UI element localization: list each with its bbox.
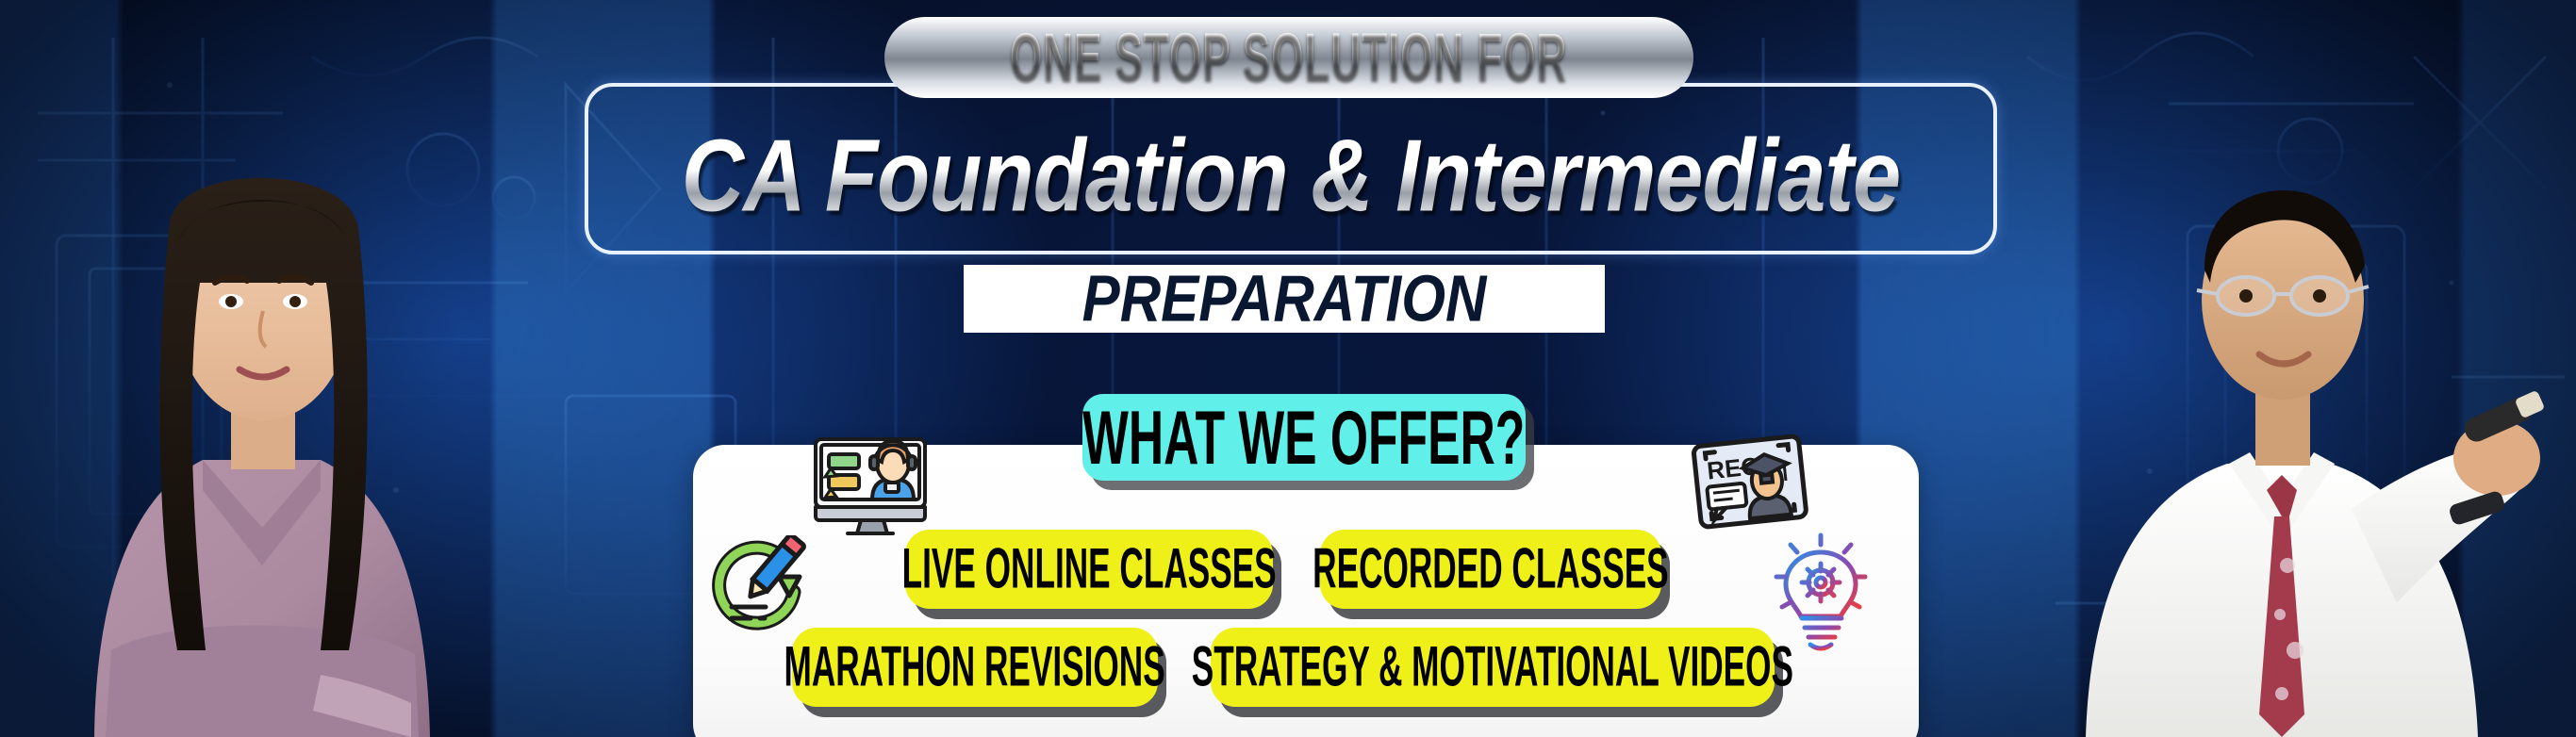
offers-heading-text: WHAT WE OFFER? [1082, 394, 1525, 481]
headline-text: CA Foundation & Intermediate [682, 118, 1900, 235]
offer-label: STRATEGY & MOTIVATIONAL VIDEOS [1192, 635, 1793, 700]
revision-pencil-icon [705, 535, 811, 641]
offer-pill-live-online-classes[interactable]: LIVE ONLINE CLASSES [905, 530, 1273, 609]
subheadline-bar: PREPARATION [964, 265, 1605, 333]
offer-pill-marathon-revisions[interactable]: MARATHON REVISIONS [792, 628, 1158, 707]
eyebrow-text: ONE STOP SOLUTION FOR [1010, 19, 1567, 96]
offers-heading-pill: WHAT WE OFFER? [1082, 394, 1526, 481]
avatar-female-faculty [38, 0, 481, 737]
idea-lightbulb-gear-icon [1771, 524, 1871, 652]
offer-label: LIVE ONLINE CLASSES [901, 537, 1276, 602]
headline: CA Foundation & Intermediate [585, 124, 1997, 228]
eyebrow-pill: ONE STOP SOLUTION FOR [884, 17, 1693, 98]
online-class-monitor-icon [806, 426, 938, 537]
promo-banner: ONE STOP SOLUTION FOR CA Foundation & In… [0, 0, 2576, 737]
offer-pill-strategy-motivational-videos[interactable]: STRATEGY & MOTIVATIONAL VIDEOS [1211, 628, 1775, 707]
offer-pill-recorded-classes[interactable]: RECORDED CLASSES [1320, 530, 1661, 609]
recorded-class-rec-icon: REC [1688, 430, 1812, 535]
offer-label: MARATHON REVISIONS [784, 635, 1165, 700]
avatar-male-faculty [2020, 0, 2548, 737]
subheadline-text: PREPARATION [1082, 261, 1487, 336]
offer-label: RECORDED CLASSES [1313, 537, 1668, 602]
